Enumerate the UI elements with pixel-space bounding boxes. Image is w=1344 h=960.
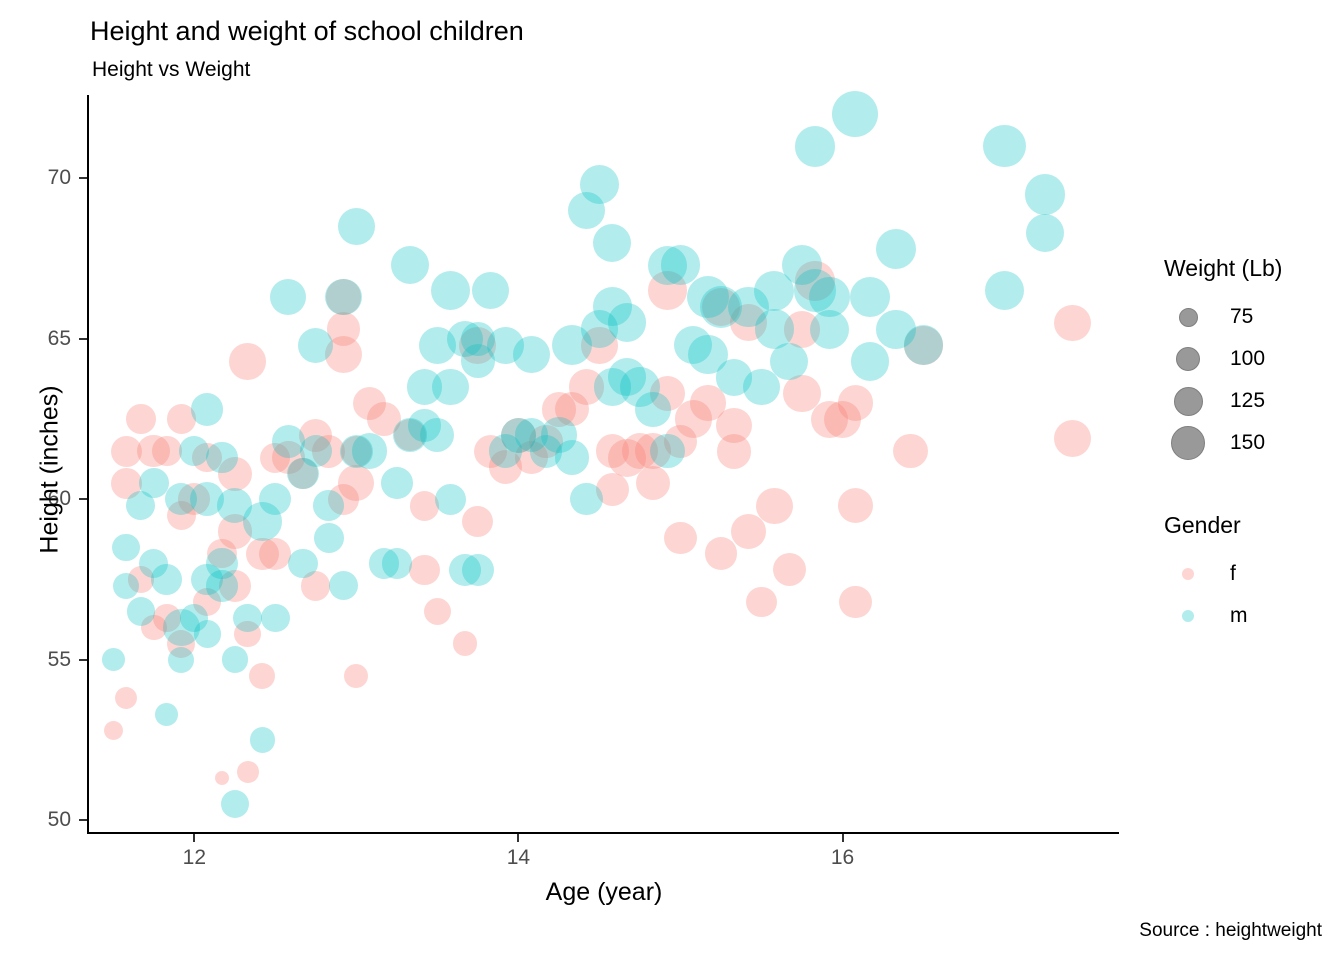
scatter-point <box>287 458 318 489</box>
y-tick-label: 70 <box>48 166 71 190</box>
scatter-point <box>593 224 631 262</box>
scatter-point <box>782 245 823 286</box>
scatter-point <box>580 165 619 204</box>
scatter-point <box>530 435 563 468</box>
scatter-point <box>529 425 562 458</box>
scatter-point <box>259 483 291 515</box>
scatter-point <box>352 433 387 468</box>
circle-icon <box>1176 347 1200 371</box>
scatter-point <box>755 309 795 349</box>
scatter-point <box>555 392 589 426</box>
scatter-point <box>1054 420 1091 457</box>
scatter-point <box>570 483 602 515</box>
scatter-point <box>344 664 368 688</box>
scatter-point <box>754 271 794 311</box>
scatter-point <box>179 436 209 466</box>
scatter-point <box>193 588 221 616</box>
scatter-point <box>700 286 742 328</box>
scatter-point <box>811 401 848 438</box>
scatter-point <box>338 465 374 501</box>
scatter-point <box>167 630 195 658</box>
scatter-point <box>690 385 725 420</box>
source-caption: Source : heightweight <box>1139 920 1322 942</box>
scatter-point <box>222 646 249 673</box>
scatter-point <box>217 488 252 523</box>
scatter-point <box>420 418 454 452</box>
scatter-point <box>272 425 305 458</box>
scatter-point <box>513 336 550 373</box>
scatter-point <box>447 321 483 357</box>
scatter-point <box>838 385 873 420</box>
scatter-point <box>702 288 740 326</box>
scatter-point <box>432 369 469 406</box>
scatter-point <box>409 555 439 585</box>
scatter-point <box>876 229 917 270</box>
y-tick-mark <box>79 177 87 179</box>
scatter-point <box>756 488 792 524</box>
scatter-point <box>489 434 522 467</box>
scatter-point <box>608 358 646 396</box>
scatter-point <box>904 326 943 365</box>
scatter-point <box>489 450 522 483</box>
scatter-point <box>449 554 481 586</box>
scatter-point <box>675 400 712 437</box>
scatter-point <box>515 441 548 474</box>
scatter-point <box>408 409 440 441</box>
scatter-point <box>259 538 291 570</box>
scatter-point <box>301 571 330 600</box>
size-legend-label: 125 <box>1230 389 1265 413</box>
scatter-point <box>555 440 590 475</box>
scatter-point <box>794 269 837 312</box>
scatter-point <box>648 271 687 310</box>
scatter-point <box>190 482 224 516</box>
size-legend-key-icon <box>1160 308 1216 327</box>
scatter-point <box>650 376 685 411</box>
scatter-point <box>141 615 167 641</box>
scatter-point <box>838 488 873 523</box>
scatter-point <box>783 375 821 413</box>
size-legend-key-icon <box>1160 347 1216 371</box>
scatter-point <box>810 310 849 349</box>
scatter-point <box>608 439 646 477</box>
scatter-point <box>313 490 344 521</box>
scatter-point <box>178 483 210 515</box>
scatter-point <box>112 534 140 562</box>
scatter-point <box>381 467 413 499</box>
scatter-point <box>795 261 834 300</box>
scatter-point <box>206 442 238 474</box>
scatter-point <box>501 418 536 453</box>
size-legend-row: 125 <box>1160 380 1340 422</box>
scatter-point <box>221 790 249 818</box>
y-tick-mark <box>79 498 87 500</box>
plot-panel <box>89 95 1118 833</box>
scatter-point <box>462 554 495 587</box>
scatter-point <box>113 573 139 599</box>
scatter-point <box>904 325 944 365</box>
scatter-point <box>596 434 629 467</box>
scatter-point <box>435 484 466 515</box>
y-tick-mark <box>79 659 87 661</box>
scatter-point <box>382 548 413 579</box>
scatter-point <box>115 687 137 709</box>
scatter-point <box>206 548 237 579</box>
scatter-point <box>367 402 401 436</box>
scatter-point <box>705 537 738 570</box>
color-legend-key-icon <box>1160 610 1216 622</box>
scatter-point <box>515 418 549 452</box>
size-legend-title: Weight (Lb) <box>1164 255 1340 282</box>
circle-icon <box>1182 610 1194 622</box>
scatter-point <box>419 327 456 364</box>
scatter-point <box>327 312 360 345</box>
scatter-point <box>128 566 154 592</box>
scatter-point <box>716 359 753 396</box>
scatter-point <box>111 436 142 467</box>
scatter-point <box>542 392 577 427</box>
legend-container: Weight (Lb) 75100125150 Gender fm <box>1160 255 1340 637</box>
scatter-point <box>325 336 362 373</box>
scatter-point <box>300 435 333 468</box>
scatter-point <box>393 418 426 451</box>
scatter-point <box>985 271 1024 310</box>
scatter-point <box>167 501 197 531</box>
scatter-point <box>165 483 197 515</box>
scatter-point <box>661 245 701 285</box>
scatter-point <box>234 621 261 648</box>
scatter-point <box>773 553 806 586</box>
scatter-point <box>462 506 493 537</box>
scatter-point <box>111 468 142 499</box>
size-legend-label: 75 <box>1230 305 1253 329</box>
scatter-point <box>431 271 470 310</box>
scatter-point <box>620 367 660 407</box>
y-axis-line <box>87 95 89 834</box>
scatter-point <box>191 564 223 596</box>
scatter-point <box>219 570 251 602</box>
scatter-point <box>102 648 125 671</box>
color-legend-row: f <box>1160 553 1340 595</box>
scatter-point <box>312 435 345 468</box>
size-legend-key-icon <box>1160 426 1216 460</box>
scatter-point <box>215 771 229 785</box>
circle-icon <box>1182 568 1194 580</box>
scatter-point <box>832 91 878 137</box>
scatter-point <box>237 761 259 783</box>
size-legend-label: 100 <box>1230 347 1265 371</box>
scatter-point <box>270 279 306 315</box>
scatter-point <box>552 325 592 365</box>
scatter-point <box>250 727 275 752</box>
scatter-point <box>314 523 344 553</box>
circle-icon <box>1171 426 1205 460</box>
scatter-point <box>501 418 536 453</box>
scatter-point <box>608 303 647 342</box>
scatter-point <box>784 311 821 348</box>
scatter-point <box>338 208 375 245</box>
scatter-plot-figure: Height and weight of school children Hei… <box>0 0 1344 960</box>
scatter-point <box>168 647 194 673</box>
scatter-point <box>635 392 670 427</box>
page-title: Height and weight of school children <box>90 16 524 47</box>
scatter-point <box>622 433 658 469</box>
scatter-point <box>328 484 359 515</box>
scatter-point <box>581 310 619 348</box>
scatter-point <box>688 335 727 374</box>
color-legend-label: m <box>1230 604 1248 628</box>
scatter-point <box>461 322 495 356</box>
scatter-point <box>1054 305 1091 342</box>
scatter-point <box>407 369 442 404</box>
scatter-point <box>824 401 861 438</box>
scatter-point <box>728 287 768 327</box>
scatter-point <box>153 604 180 631</box>
size-legend-row: 75 <box>1160 296 1340 338</box>
size-legend-label: 150 <box>1230 431 1265 455</box>
scatter-point <box>127 597 155 625</box>
size-legend-row: 150 <box>1160 422 1340 464</box>
scatter-point <box>650 434 684 468</box>
scatter-point <box>126 404 156 434</box>
scatter-point <box>850 277 891 318</box>
scatter-point <box>568 192 606 230</box>
y-tick-mark <box>79 819 87 821</box>
scatter-point <box>233 604 262 633</box>
scatter-point <box>394 419 427 452</box>
scatter-point <box>795 126 836 167</box>
color-legend-key-icon <box>1160 568 1216 580</box>
y-axis-title: Height (inches) <box>36 220 65 720</box>
scatter-point <box>369 548 399 578</box>
scatter-point <box>569 369 605 405</box>
scatter-point <box>137 435 170 468</box>
scatter-point <box>272 441 305 474</box>
scatter-point <box>299 419 332 452</box>
scatter-point <box>636 466 670 500</box>
scatter-point <box>163 609 200 646</box>
scatter-point <box>474 435 507 468</box>
x-axis-line <box>87 832 1119 834</box>
scatter-point <box>326 279 362 315</box>
scatter-point <box>581 327 618 364</box>
scatter-point <box>194 620 221 647</box>
scatter-point <box>391 246 430 285</box>
color-legend-items: fm <box>1160 553 1340 637</box>
scatter-point <box>206 570 237 601</box>
scatter-point <box>461 344 495 378</box>
scatter-point <box>746 587 777 618</box>
x-tick-label: 14 <box>507 846 530 870</box>
scatter-point <box>730 304 767 341</box>
scatter-point <box>664 425 697 458</box>
scatter-point <box>809 277 850 318</box>
scatter-point <box>424 598 451 625</box>
color-legend-row: m <box>1160 595 1340 637</box>
scatter-point <box>487 327 524 364</box>
circle-icon <box>1174 387 1203 416</box>
scatter-point <box>770 343 807 380</box>
scatter-point <box>139 468 169 498</box>
scatter-point <box>192 443 222 473</box>
y-tick-label: 50 <box>48 808 71 832</box>
x-tick-mark <box>842 834 844 842</box>
scatter-point <box>218 514 253 549</box>
scatter-point <box>593 287 632 326</box>
scatter-point <box>229 343 266 380</box>
size-legend-key-icon <box>1160 387 1216 416</box>
scatter-point <box>983 125 1025 167</box>
scatter-point <box>687 276 729 318</box>
scatter-point <box>152 436 182 466</box>
scatter-point <box>851 342 890 381</box>
y-tick-mark <box>79 338 87 340</box>
scatter-point <box>453 631 478 656</box>
scatter-point <box>410 491 440 521</box>
scatter-point <box>541 417 576 452</box>
scatter-point <box>218 457 252 491</box>
scatter-point <box>674 326 712 364</box>
chart-subtitle: Height vs Weight <box>92 58 250 82</box>
scatter-point <box>839 586 871 618</box>
scatter-point <box>876 310 915 349</box>
scatter-point <box>261 604 289 632</box>
scatter-point <box>459 327 496 364</box>
scatter-point <box>340 435 373 468</box>
scatter-point <box>298 328 333 363</box>
scatter-point <box>249 663 275 689</box>
scatter-point <box>155 703 178 726</box>
scatter-point <box>743 369 779 405</box>
x-tick-label: 12 <box>183 846 206 870</box>
scatter-point <box>1026 214 1065 253</box>
x-axis-title: Age (year) <box>0 878 1208 907</box>
scatter-point <box>167 404 197 434</box>
x-tick-label: 16 <box>831 846 854 870</box>
size-legend-items: 75100125150 <box>1160 296 1340 464</box>
scatter-point <box>139 549 168 578</box>
scatter-point <box>716 408 752 444</box>
scatter-point <box>151 564 182 595</box>
scatter-point <box>664 522 696 554</box>
scatter-point <box>288 549 318 579</box>
scatter-point <box>104 721 123 740</box>
color-legend-title: Gender <box>1164 512 1340 539</box>
scatter-point <box>635 433 671 469</box>
scatter-point <box>243 502 282 541</box>
scatter-point <box>325 279 362 316</box>
scatter-point <box>260 443 290 473</box>
scatter-point <box>341 436 372 467</box>
x-tick-mark <box>517 834 519 842</box>
scatter-point <box>207 539 236 568</box>
color-legend-label: f <box>1230 562 1236 586</box>
scatter-point <box>472 272 509 309</box>
scatter-point <box>1025 174 1066 215</box>
scatter-point <box>191 393 223 425</box>
scatter-point <box>596 473 629 506</box>
scatter-point <box>246 538 279 571</box>
x-tick-mark <box>193 834 195 842</box>
scatter-point <box>893 434 928 469</box>
scatter-point <box>594 368 631 405</box>
circle-icon <box>1179 308 1198 327</box>
scatter-point <box>648 246 687 285</box>
scatter-point <box>731 514 766 549</box>
scatter-point <box>180 604 208 632</box>
size-legend-row: 100 <box>1160 338 1340 380</box>
scatter-point <box>126 491 155 520</box>
scatter-point <box>717 434 752 469</box>
scatter-point <box>329 571 358 600</box>
scatter-point <box>288 458 318 488</box>
scatter-point <box>353 387 386 420</box>
